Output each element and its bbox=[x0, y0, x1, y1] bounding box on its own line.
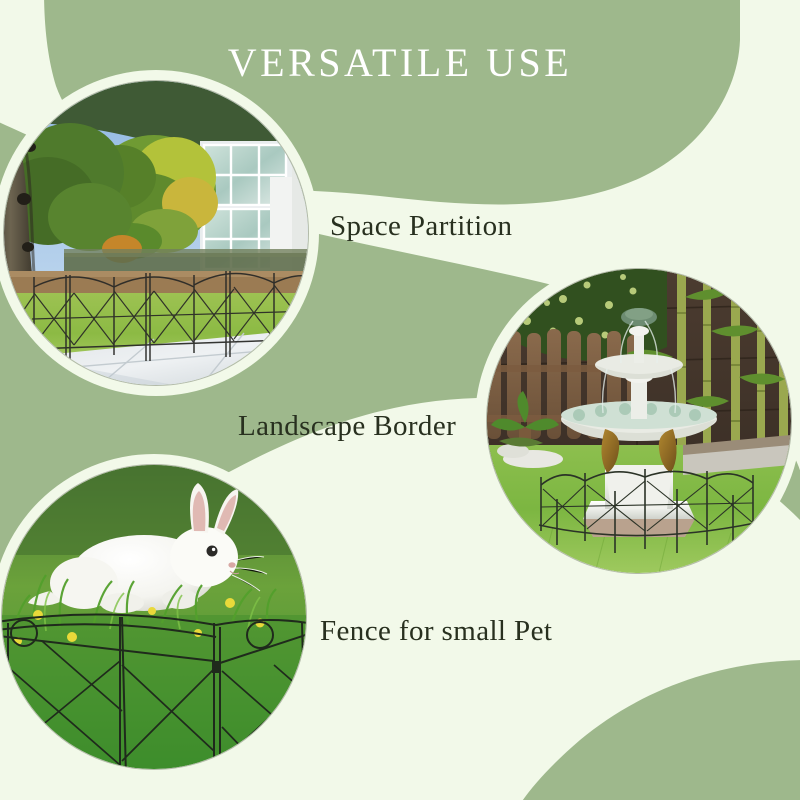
photo-landscape-border bbox=[487, 269, 791, 573]
photo-fence-small-pet bbox=[2, 465, 306, 769]
photo-space-partition bbox=[4, 81, 308, 385]
caption-space-partition: Space Partition bbox=[330, 210, 512, 243]
caption-landscape-border: Landscape Border bbox=[238, 410, 456, 443]
caption-fence-small-pet: Fence for small Pet bbox=[320, 615, 552, 648]
page-title: VERSATILE USE bbox=[0, 41, 800, 85]
poster: VERSATILE USE bbox=[0, 0, 800, 800]
